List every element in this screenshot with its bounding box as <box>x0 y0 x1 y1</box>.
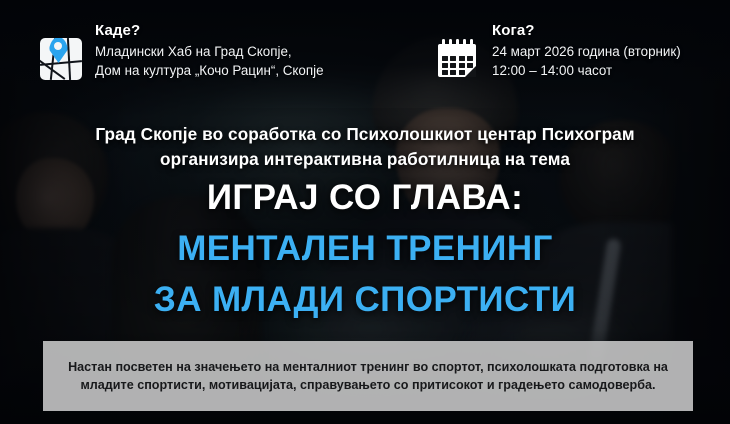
location-block: Каде? Младински Хаб на Град Скопје, Дом … <box>40 22 324 82</box>
calendar-day-cell <box>459 63 465 68</box>
intro-text: Град Скопје во соработка со Психолошкиот… <box>0 122 730 172</box>
headline-line-2: МЕНТАЛЕН ТРЕНИНГ <box>0 231 730 266</box>
description-text: Настан посветен на значењето на ментални… <box>43 358 693 394</box>
calendar-day-cell <box>467 56 473 61</box>
datetime-block: Кога? 24 март 2026 година (вторник) 12:0… <box>437 22 681 82</box>
calendar-day-grid <box>442 56 473 75</box>
description-banner: Настан посветен на значењето на ментални… <box>43 341 693 411</box>
calendar-icon <box>437 36 483 82</box>
intro-line-2: организира интерактивна работилница на т… <box>0 147 730 172</box>
calendar-day-cell <box>450 56 456 61</box>
calendar-day-cell <box>467 63 473 68</box>
poster-content: Каде? Младински Хаб на Град Скопје, Дом … <box>0 0 730 424</box>
calendar-day-cell <box>442 63 448 68</box>
headline-line-3: ЗА МЛАДИ СПОРТИСТИ <box>0 282 730 317</box>
location-line-1: Младински Хаб на Град Скопје, <box>95 43 324 62</box>
calendar-day-cell <box>450 70 456 75</box>
map-road-vertical-2 <box>67 38 72 80</box>
calendar-body <box>438 44 476 77</box>
event-poster: Каде? Младински Хаб на Град Скопје, Дом … <box>0 0 730 424</box>
calendar-day-cell <box>442 56 448 61</box>
calendar-day-cell <box>442 70 448 75</box>
map-tile-shape <box>40 38 82 80</box>
headline-block: ИГРАЈ СО ГЛАВА: МЕНТАЛЕН ТРЕНИНГ ЗА МЛАД… <box>0 180 730 317</box>
location-text: Каде? Младински Хаб на Град Скопје, Дом … <box>95 22 324 80</box>
datetime-text: Кога? 24 март 2026 година (вторник) 12:0… <box>492 22 681 80</box>
datetime-time: 12:00 – 14:00 часот <box>492 62 681 81</box>
location-line-2: Дом на култура „Кочо Рацин“, Скопје <box>95 62 324 81</box>
location-heading: Каде? <box>95 22 324 40</box>
datetime-date: 24 март 2026 година (вторник) <box>492 43 681 62</box>
map-pin-icon <box>40 36 86 82</box>
headline-line-1: ИГРАЈ СО ГЛАВА: <box>0 180 730 215</box>
calendar-day-cell <box>459 56 465 61</box>
datetime-heading: Кога? <box>492 22 681 40</box>
calendar-day-cell <box>459 70 465 75</box>
calendar-day-cell <box>450 63 456 68</box>
intro-line-1: Град Скопје во соработка со Психолошкиот… <box>0 122 730 147</box>
calendar-shape <box>438 39 478 78</box>
